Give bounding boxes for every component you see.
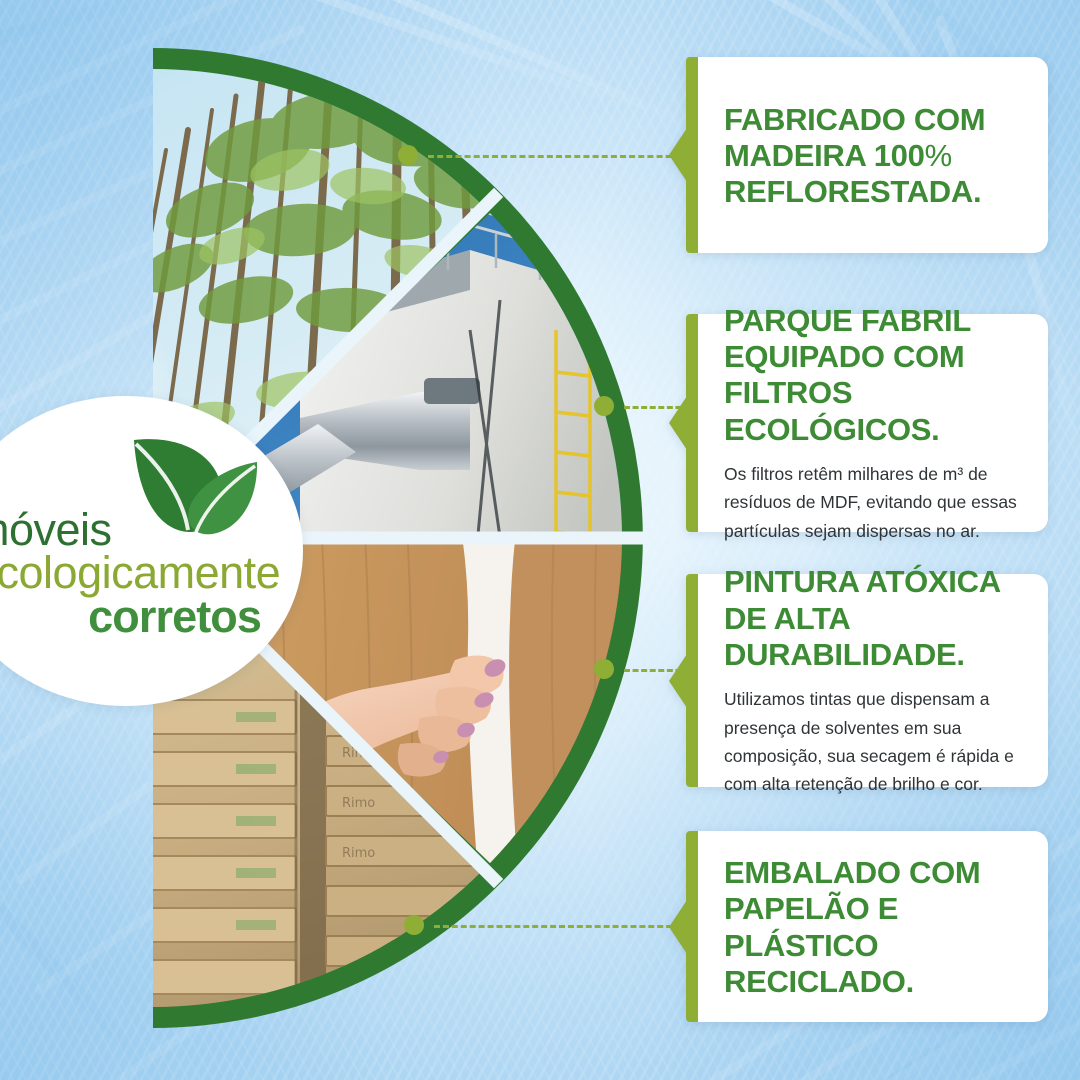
card-3-description: Utilizamos tintas que dispensam a presen… <box>724 685 1018 798</box>
card-3-arrow-icon <box>669 654 687 708</box>
card-1-title-text: FABRICADO COM <box>724 102 985 137</box>
logo-line-1: móveis <box>0 508 289 551</box>
card-4-accent-bar <box>686 831 698 1022</box>
svg-text:Rimo: Rimo <box>342 846 375 861</box>
card-1-title-number: 100 <box>874 138 925 173</box>
card-madeira-reflorestada[interactable]: FABRICADO COM MADEIRA 100% REFLORESTADA. <box>686 57 1048 253</box>
card-1-accent-bar <box>686 57 698 253</box>
card-3-body: PINTURA ATÓXICA DE ALTA DURABILIDADE. Ut… <box>698 574 1048 787</box>
card-3-title: PINTURA ATÓXICA DE ALTA DURABILIDADE. <box>724 564 1018 673</box>
svg-text:Rimo: Rimo <box>62 711 95 726</box>
card-1-title-text-3: REFLORESTADA. <box>724 174 981 209</box>
card-4-body: EMBALADO COM PAPELÃO E PLÁSTICO RECICLAD… <box>698 831 1048 1022</box>
svg-text:Rimo: Rimo <box>62 919 95 934</box>
logo-line-3: corretos <box>0 594 289 639</box>
card-1-arrow-icon <box>669 128 687 182</box>
card-1-body: FABRICADO COM MADEIRA 100% REFLORESTADA. <box>698 57 1048 253</box>
card-embalagem-reciclada[interactable]: EMBALADO COM PAPELÃO E PLÁSTICO RECICLAD… <box>686 831 1048 1022</box>
card-1-title-text-2: MADEIRA <box>724 138 874 173</box>
connector-1 <box>414 155 690 158</box>
svg-text:Rimo: Rimo <box>62 867 95 882</box>
card-2-body: PARQUE FABRIL EQUIPADO COM FILTROS ECOLÓ… <box>698 314 1048 532</box>
card-2-title: PARQUE FABRIL EQUIPADO COM FILTROS ECOLÓ… <box>724 303 1018 448</box>
card-filtros-ecologicos[interactable]: PARQUE FABRIL EQUIPADO COM FILTROS ECOLÓ… <box>686 314 1048 532</box>
card-2-description: Os filtros retêm milhares de m³ de resíd… <box>724 460 1018 545</box>
svg-text:Rimo: Rimo <box>62 815 95 830</box>
logo-line-2: ecologicamente <box>0 551 289 594</box>
svg-text:Rimo: Rimo <box>62 971 95 986</box>
connector-1-line <box>428 155 690 158</box>
card-4-title: EMBALADO COM PAPELÃO E PLÁSTICO RECICLAD… <box>724 855 1018 1000</box>
connector-4 <box>420 925 690 928</box>
card-3-accent-bar <box>686 574 698 787</box>
card-2-arrow-icon <box>669 396 687 450</box>
card-4-arrow-icon <box>669 900 687 954</box>
card-1-title: FABRICADO COM MADEIRA 100% REFLORESTADA. <box>724 102 1018 211</box>
infographic-canvas: RimoRimo RimoRimo RimoRimo RimoRimo Rimo… <box>0 0 1080 1080</box>
card-1-title-percent: % <box>925 138 952 173</box>
svg-text:Rimo: Rimo <box>62 763 95 778</box>
svg-text:Rimo: Rimo <box>342 796 375 811</box>
card-pintura-atoxica[interactable]: PINTURA ATÓXICA DE ALTA DURABILIDADE. Ut… <box>686 574 1048 787</box>
logo-wordmark: móveis ecologicamente corretos <box>0 508 303 639</box>
card-2-accent-bar <box>686 314 698 532</box>
connector-4-line <box>434 925 690 928</box>
